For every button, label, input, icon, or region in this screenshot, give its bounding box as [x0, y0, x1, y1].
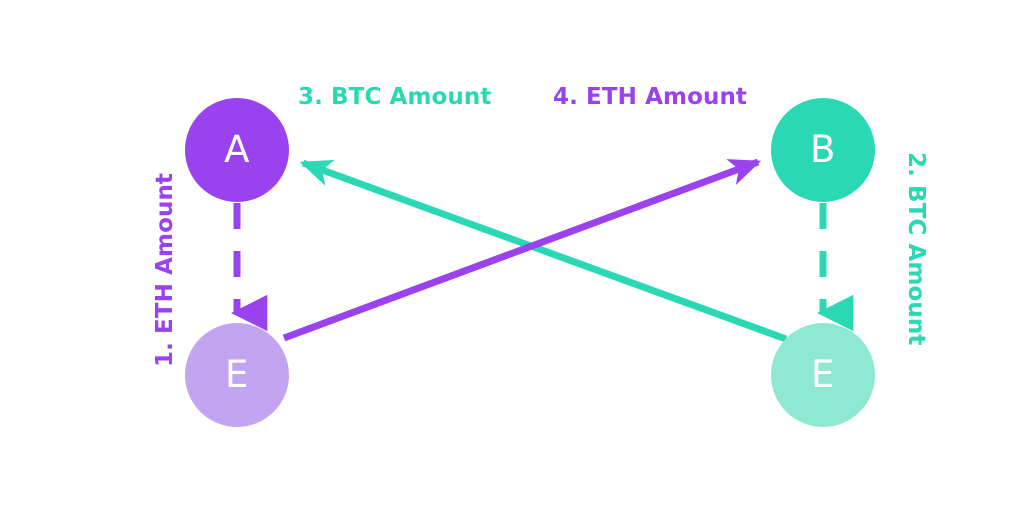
edge-1-label: 1. ETH Amount	[152, 173, 178, 367]
edge-4-label: 4. ETH Amount	[553, 84, 747, 110]
diagram-canvas: A B E E 1. ETH Amount 2. BTC Amount 3. B…	[0, 0, 1024, 510]
edge-3-line	[303, 163, 786, 339]
node-a-label: A	[224, 131, 250, 168]
edge-3-label: 3. BTC Amount	[298, 84, 491, 110]
node-e-left-label: E	[225, 356, 249, 393]
node-a[interactable]: A	[185, 98, 289, 202]
node-e-right-label: E	[811, 356, 835, 393]
node-b-label: B	[810, 131, 836, 168]
node-e-left[interactable]: E	[185, 323, 289, 427]
edge-2-label: 2. BTC Amount	[903, 152, 929, 345]
node-e-right[interactable]: E	[771, 323, 875, 427]
edge-4-line	[284, 162, 758, 338]
node-b[interactable]: B	[771, 98, 875, 202]
